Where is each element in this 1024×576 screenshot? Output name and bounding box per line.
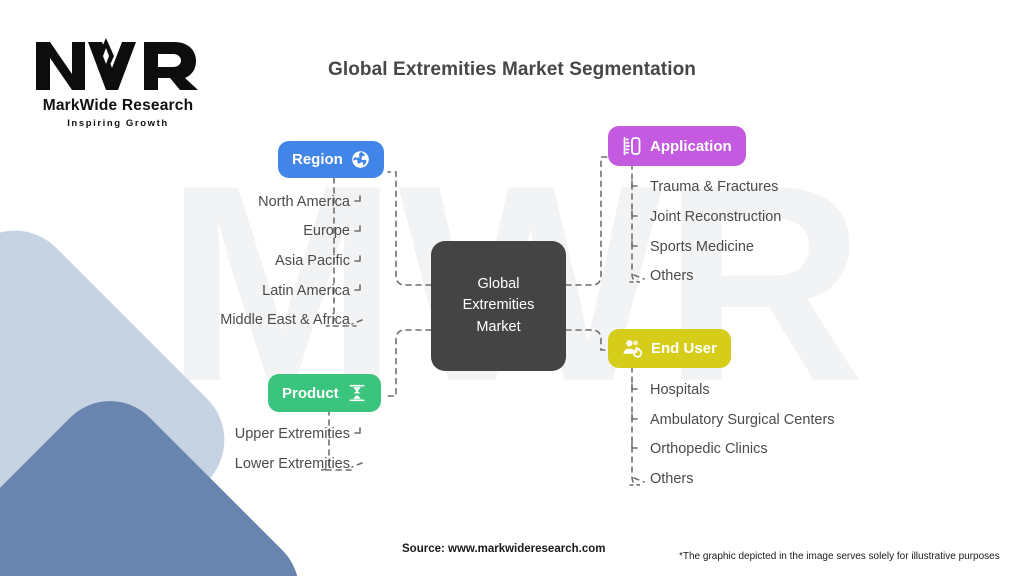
brand-tagline: Inspiring Growth [28,118,208,129]
leaf-application-3[interactable]: Sports Medicine [650,239,754,255]
globe-icon [351,150,370,169]
branch-label-region: Region [292,151,343,168]
wire-center-region [388,172,431,285]
branch-badge-application[interactable]: Application [608,126,746,166]
center-node-line-2: Extremities [463,295,535,316]
wire-region-leaf-5 [352,320,362,324]
branch-badge-product[interactable]: Product [268,374,381,412]
leaf-product-1[interactable]: Upper Extremities [235,426,350,442]
bone-implant-icon [347,383,367,403]
infographic-canvas: MWR MarkWide Research Inspiring Growth G… [0,0,1024,576]
center-node-line-1: Global [463,274,535,295]
leaf-region-5[interactable]: Middle East & Africa [220,312,350,328]
wire-center-application [566,157,608,285]
decorative-shape-back [0,198,127,552]
leaf-enduser-2[interactable]: Ambulatory Surgical Centers [650,412,835,428]
leaf-enduser-3[interactable]: Orthopedic Clinics [650,441,768,457]
leaf-region-1[interactable]: North America [258,194,350,210]
page-title: Global Extremities Market Segmentation [0,59,1024,81]
brand-name: MarkWide Research [28,97,208,115]
wire-region-leaf-3 [350,256,360,261]
wire-enduser-spine [630,367,640,485]
wire-application-leaf-2 [632,211,642,216]
wire-product-leaf-2 [352,463,362,467]
leaf-enduser-1[interactable]: Hospitals [650,382,710,398]
leaf-product-2[interactable]: Lower Extremities [235,456,350,472]
center-node-label: Global Extremities Market [463,274,535,337]
wire-application-leaf-1 [632,181,642,186]
wire-application-spine [630,164,640,282]
leaf-region-4[interactable]: Latin America [262,283,350,299]
users-refresh-icon [622,338,643,359]
wire-region-leaf-1 [350,196,360,201]
center-node-line-3: Market [463,317,535,338]
source-text[interactable]: Source: www.markwideresearch.com [402,543,605,555]
branch-label-enduser: End User [651,340,717,357]
disclaimer-text: *The graphic depicted in the image serve… [679,551,1000,562]
branch-label-application: Application [650,138,732,155]
branch-badge-region[interactable]: Region [278,141,384,178]
leaf-application-4[interactable]: Others [650,268,694,284]
leaf-enduser-4[interactable]: Others [650,471,694,487]
wire-product-leaf-1 [350,428,360,433]
wire-application-leaf-3 [632,241,642,246]
leaf-application-1[interactable]: Trauma & Fractures [650,179,778,195]
wire-enduser-leaf-4 [634,478,644,482]
wire-application-leaf-4 [634,275,644,279]
wire-enduser-leaf-1 [632,384,642,389]
leaf-region-3[interactable]: Asia Pacific [275,253,350,269]
wire-region-leaf-4 [350,285,360,290]
branch-label-product: Product [282,385,339,402]
wire-enduser-leaf-3 [632,443,642,448]
spine-device-icon [622,135,642,157]
leaf-region-2[interactable]: Europe [303,223,350,239]
wire-center-enduser [566,330,608,350]
branch-badge-enduser[interactable]: End User [608,329,731,368]
wire-region-leaf-2 [350,226,360,231]
leaf-application-2[interactable]: Joint Reconstruction [650,209,781,225]
wire-center-product [388,330,431,396]
wire-enduser-leaf-2 [632,414,642,419]
decorative-shape-light [0,207,248,576]
center-node[interactable]: Global Extremities Market [431,241,566,371]
